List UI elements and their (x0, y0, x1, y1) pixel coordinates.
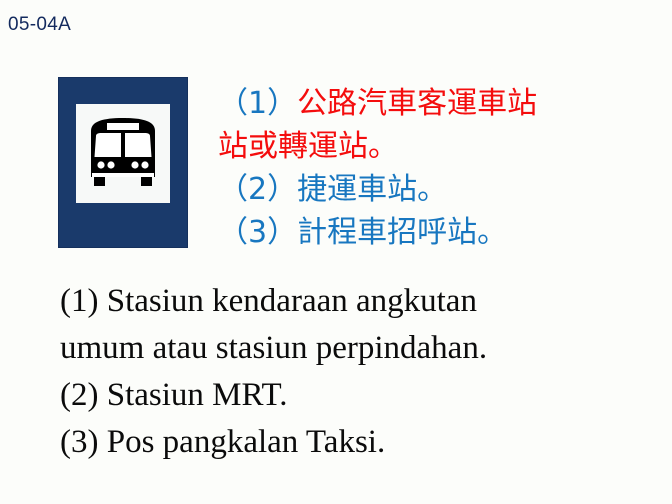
bus-station-sign (58, 77, 188, 248)
chinese-line-1-marker: （1） (218, 86, 297, 121)
chinese-line-4: （3）計程車招呼站。 (218, 211, 618, 254)
chinese-line-1: （1）公路汽車客運車站 (218, 82, 618, 125)
indonesian-line-3: (2) Stasiun MRT. (60, 372, 660, 419)
chinese-line-3-marker: （2） (218, 172, 297, 207)
chinese-line-4-marker: （3） (218, 215, 297, 250)
chinese-text-block: （1）公路汽車客運車站 站或轉運站。 （2）捷運車站。 （3）計程車招呼站。 (218, 82, 618, 254)
indonesian-text-block: (1) Stasiun kendaraan angkutan umum atau… (60, 278, 660, 466)
indonesian-line-2: umum atau stasiun perpindahan. (60, 325, 660, 372)
indonesian-line-1: (1) Stasiun kendaraan angkutan (60, 278, 660, 325)
chinese-line-3-text: 捷運車站。 (297, 172, 447, 207)
slide-canvas: 05-04A (0, 0, 672, 504)
sign-white-panel (76, 104, 170, 203)
slide-number-label: 05-04A (8, 14, 71, 36)
indonesian-line-4: (3) Pos pangkalan Taksi. (60, 419, 660, 466)
bus-front-icon (81, 109, 165, 199)
chinese-line-2: 站或轉運站。 (218, 125, 618, 168)
chinese-line-1-text: 公路汽車客運車站 (297, 86, 537, 121)
chinese-line-3: （2）捷運車站。 (218, 168, 618, 211)
chinese-line-2-text: 站或轉運站。 (218, 129, 398, 164)
chinese-line-4-text: 計程車招呼站。 (297, 215, 507, 250)
